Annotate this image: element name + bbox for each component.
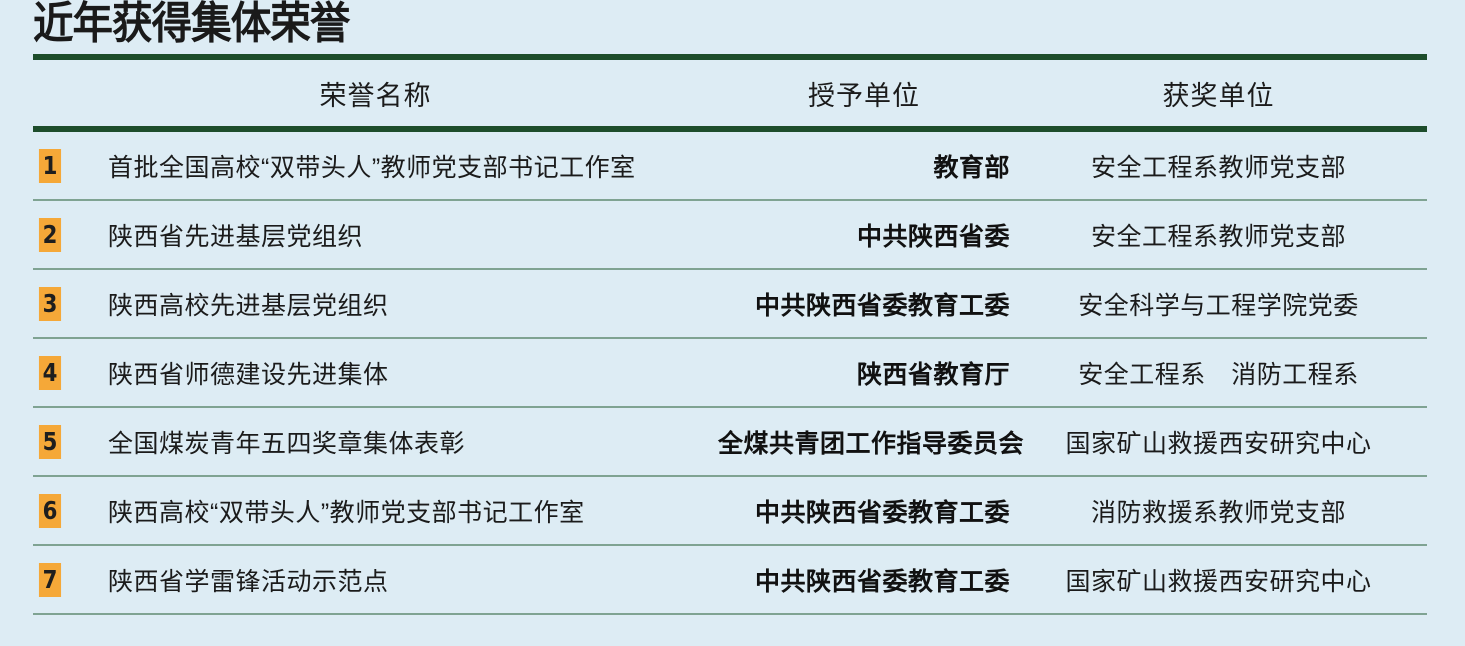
cell-winning-unit: 安全科学与工程学院党委 (1010, 270, 1427, 337)
row-spacer-left (0, 132, 33, 199)
honors-table: 荣誉名称 授予单位 获奖单位 (0, 60, 1465, 126)
row-spacer-left (0, 201, 33, 268)
cell-awarding-org: 中共陕西省委 (718, 201, 1010, 268)
header-spacer-left (0, 60, 33, 126)
header-row: 荣誉名称 授予单位 获奖单位 (0, 60, 1465, 126)
table-row: 6陕西高校“双带头人”教师党支部书记工作室中共陕西省委教育工委消防救援系教师党支… (0, 477, 1465, 544)
table-header: 荣誉名称 授予单位 获奖单位 (0, 60, 1465, 126)
row-index-cell: 1 (33, 132, 85, 199)
header-honor-name: 荣誉名称 (33, 60, 718, 126)
cell-honor-name: 陕西省学雷锋活动示范点 (85, 546, 718, 613)
row-spacer-right (1427, 132, 1465, 199)
row-spacer-right (1427, 201, 1465, 268)
cell-awarding-org: 陕西省教育厅 (718, 339, 1010, 406)
cell-honor-name: 陕西省先进基层党组织 (85, 201, 718, 268)
honors-table-page: 近年获得集体荣誉 荣誉名称 授予单位 获奖单位 (0, 0, 1465, 646)
separator-rule (33, 613, 1427, 615)
row-index-badge: 1 (39, 149, 61, 183)
table-row: 7陕西省学雷锋活动示范点中共陕西省委教育工委国家矿山救援西安研究中心 (0, 546, 1465, 613)
cell-awarding-org: 全煤共青团工作指导委员会 (718, 408, 1010, 475)
row-separator (0, 613, 1465, 615)
row-index-badge: 6 (39, 494, 61, 528)
separator-spacer-right (1427, 613, 1465, 615)
row-spacer-right (1427, 270, 1465, 337)
page-title-container: 近年获得集体荣誉 (0, 0, 1465, 54)
table-body: 1首批全国高校“双带头人”教师党支部书记工作室教育部安全工程系教师党支部2陕西省… (0, 132, 1465, 615)
cell-winning-unit: 安全工程系 消防工程系 (1010, 339, 1427, 406)
table-row: 5全国煤炭青年五四奖章集体表彰全煤共青团工作指导委员会国家矿山救援西安研究中心 (0, 408, 1465, 475)
row-spacer-left (0, 270, 33, 337)
row-index-badge: 7 (39, 563, 61, 597)
row-index-badge: 2 (39, 218, 61, 252)
row-spacer-right (1427, 339, 1465, 406)
row-index-cell: 5 (33, 408, 85, 475)
row-index-cell: 7 (33, 546, 85, 613)
cell-awarding-org: 教育部 (718, 132, 1010, 199)
cell-winning-unit: 消防救援系教师党支部 (1010, 477, 1427, 544)
row-spacer-right (1427, 546, 1465, 613)
cell-honor-name: 首批全国高校“双带头人”教师党支部书记工作室 (85, 132, 718, 199)
cell-honor-name: 陕西高校先进基层党组织 (85, 270, 718, 337)
cell-honor-name: 陕西省师德建设先进集体 (85, 339, 718, 406)
cell-winning-unit: 安全工程系教师党支部 (1010, 132, 1427, 199)
row-spacer-right (1427, 408, 1465, 475)
table-row: 3陕西高校先进基层党组织中共陕西省委教育工委安全科学与工程学院党委 (0, 270, 1465, 337)
row-spacer-left (0, 477, 33, 544)
separator-line (33, 613, 1427, 615)
header-awarding-org: 授予单位 (718, 60, 1010, 126)
row-index-badge: 3 (39, 287, 61, 321)
cell-winning-unit: 国家矿山救援西安研究中心 (1010, 408, 1427, 475)
table-row: 1首批全国高校“双带头人”教师党支部书记工作室教育部安全工程系教师党支部 (0, 132, 1465, 199)
row-index-cell: 3 (33, 270, 85, 337)
separator-spacer-left (0, 613, 33, 615)
page-title: 近年获得集体荣誉 (33, 2, 1350, 54)
cell-awarding-org: 中共陕西省委教育工委 (718, 477, 1010, 544)
cell-winning-unit: 国家矿山救援西安研究中心 (1010, 546, 1427, 613)
header-winning-unit: 获奖单位 (1010, 60, 1427, 126)
table-row: 2陕西省先进基层党组织中共陕西省委安全工程系教师党支部 (0, 201, 1465, 268)
header-spacer-right (1427, 60, 1465, 126)
honors-table-body-wrap: 1首批全国高校“双带头人”教师党支部书记工作室教育部安全工程系教师党支部2陕西省… (0, 132, 1465, 615)
table-row: 4陕西省师德建设先进集体陕西省教育厅安全工程系 消防工程系 (0, 339, 1465, 406)
row-spacer-left (0, 408, 33, 475)
row-spacer-right (1427, 477, 1465, 544)
cell-winning-unit: 安全工程系教师党支部 (1010, 201, 1427, 268)
row-index-badge: 5 (39, 425, 61, 459)
row-index-cell: 2 (33, 201, 85, 268)
cell-honor-name: 全国煤炭青年五四奖章集体表彰 (85, 408, 718, 475)
cell-honor-name: 陕西高校“双带头人”教师党支部书记工作室 (85, 477, 718, 544)
row-spacer-left (0, 546, 33, 613)
row-index-cell: 6 (33, 477, 85, 544)
row-index-cell: 4 (33, 339, 85, 406)
cell-awarding-org: 中共陕西省委教育工委 (718, 270, 1010, 337)
cell-awarding-org: 中共陕西省委教育工委 (718, 546, 1010, 613)
row-index-badge: 4 (39, 356, 61, 390)
row-spacer-left (0, 339, 33, 406)
